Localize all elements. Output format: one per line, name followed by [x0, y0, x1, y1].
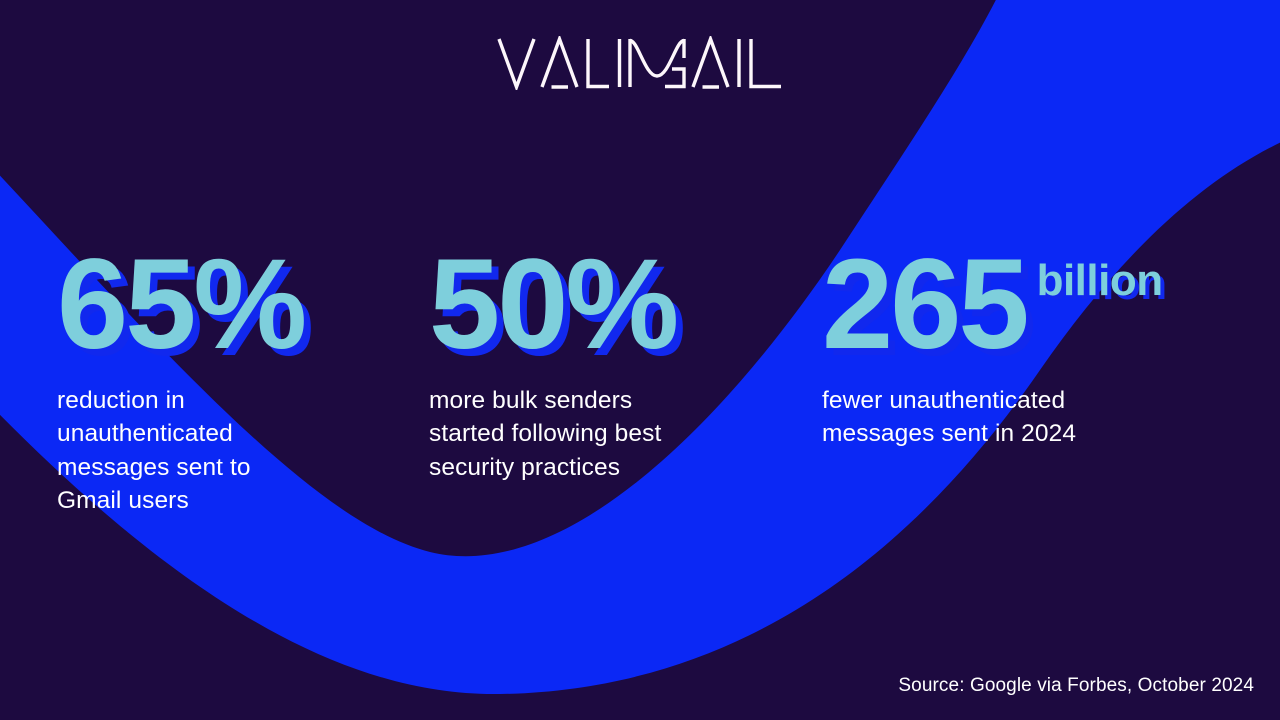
- valimail-wordmark-icon: [497, 36, 783, 90]
- source-attribution: Source: Google via Forbes, October 2024: [898, 674, 1254, 698]
- stat-3-unit: billion: [1037, 259, 1163, 303]
- stat-3-number-row: 265 billion: [822, 249, 1222, 362]
- stat-1-description: reduction in unauthenticated messages se…: [57, 384, 397, 518]
- stat-block-3: 265 billion fewer unauthenticated messag…: [822, 249, 1222, 451]
- valimail-logo: [0, 30, 1280, 96]
- stat-3-number: 265: [822, 249, 1027, 362]
- stat-1-number: 65%: [57, 249, 304, 362]
- stat-3-description: fewer unauthenticated messages sent in 2…: [822, 384, 1222, 451]
- stat-2-description: more bulk senders started following best…: [429, 384, 774, 485]
- stat-2-number: 50%: [429, 249, 676, 362]
- stat-1-number-row: 65%: [57, 249, 397, 362]
- stats-row: 65% reduction in unauthenticated message…: [0, 0, 1280, 720]
- stat-block-2: 50% more bulk senders started following …: [429, 249, 774, 484]
- stat-block-1: 65% reduction in unauthenticated message…: [57, 249, 397, 518]
- infographic-canvas: 65% reduction in unauthenticated message…: [0, 0, 1280, 720]
- stat-2-number-row: 50%: [429, 249, 774, 362]
